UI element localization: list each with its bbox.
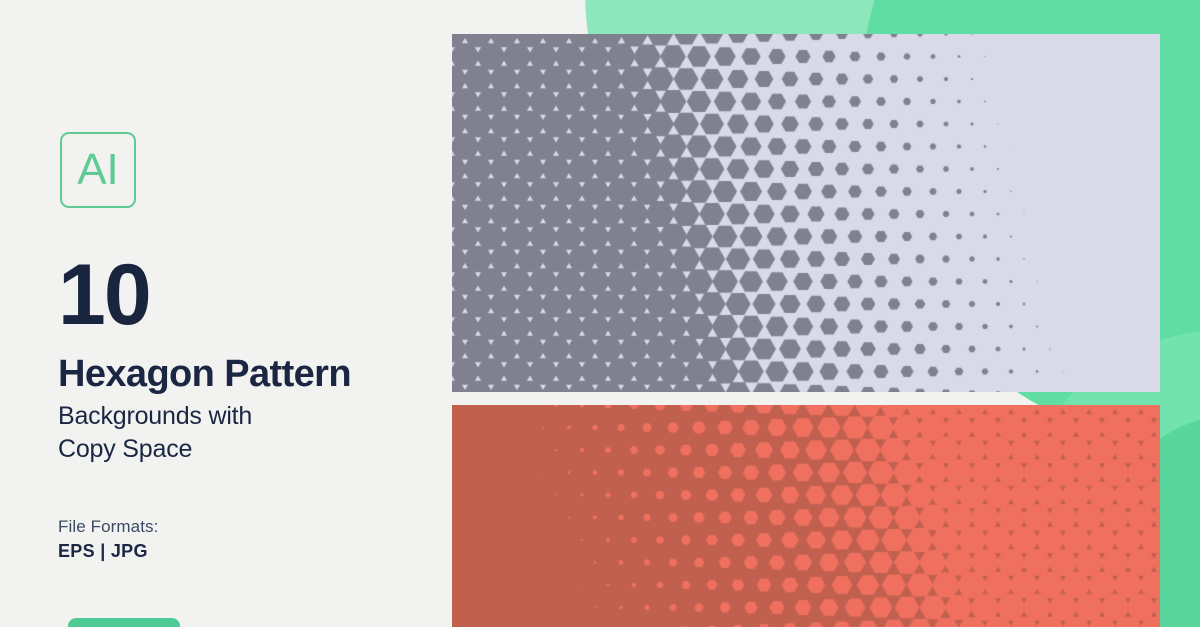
ai-file-format-badge-icon: AI	[60, 132, 136, 208]
file-formats-label: File Formats:	[58, 517, 158, 537]
info-panel: AI 10 Hexagon Pattern Backgrounds with C…	[0, 0, 452, 627]
page-subtitle-line-1: Backgrounds with	[58, 400, 252, 433]
cta-button[interactable]	[68, 618, 180, 627]
page-subtitle: Backgrounds with Copy Space	[58, 400, 252, 466]
item-count: 10	[58, 252, 150, 338]
coral-hexagon-preview-card[interactable]	[452, 405, 1160, 627]
lavender-halftone-hexagon-pattern	[452, 34, 1160, 392]
file-formats-value: EPS | JPG	[58, 541, 148, 562]
ai-badge-label: AI	[77, 148, 119, 192]
page-subtitle-line-2: Copy Space	[58, 433, 252, 466]
lavender-hexagon-preview-card[interactable]	[452, 34, 1160, 392]
page-title: Hexagon Pattern	[58, 355, 351, 393]
coral-halftone-hexagon-pattern	[452, 405, 1160, 627]
poster-canvas: AI 10 Hexagon Pattern Backgrounds with C…	[0, 0, 1200, 627]
